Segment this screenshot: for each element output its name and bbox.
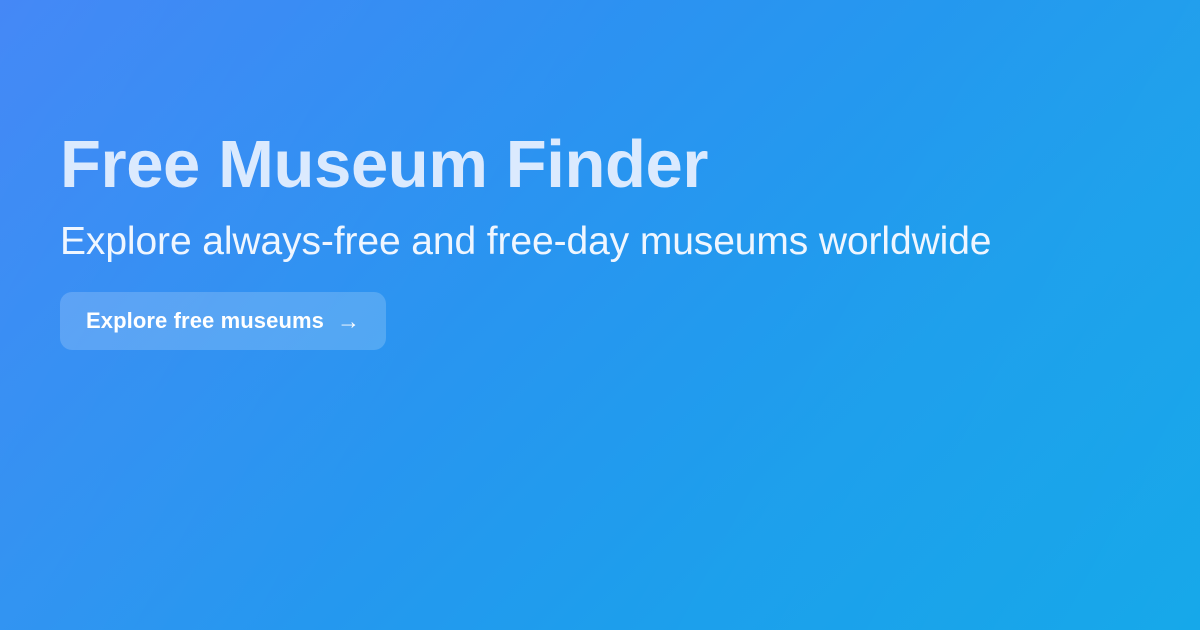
cta-row: Explore free museums →	[60, 267, 1140, 350]
page-subtitle: Explore always-free and free-day museums…	[60, 204, 1140, 267]
hero-banner: Free Museum Finder Explore always-free a…	[0, 0, 1200, 630]
explore-free-museums-button-label: Explore free museums	[86, 310, 324, 332]
explore-free-museums-button[interactable]: Explore free museums →	[60, 292, 386, 350]
page-title: Free Museum Finder	[60, 126, 1140, 204]
hero-content: Free Museum Finder Explore always-free a…	[60, 126, 1140, 350]
arrow-right-icon: →	[337, 310, 360, 333]
